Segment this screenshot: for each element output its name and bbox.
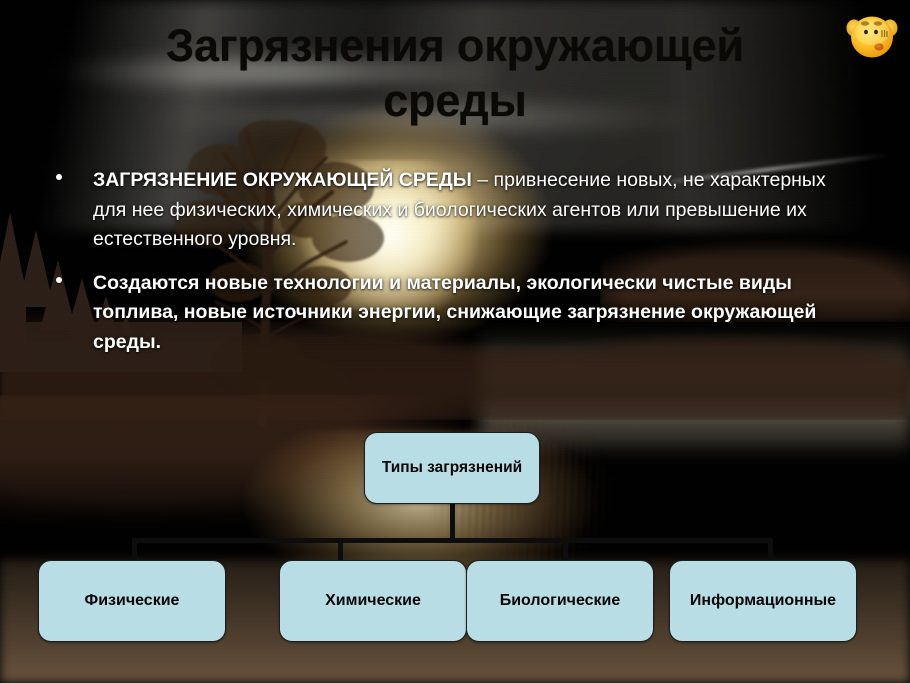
diagram-node-informational[interactable]: Информационные [669, 560, 857, 642]
pollution-types-diagram: Типы загрязнений Физические Химические Б… [0, 0, 910, 683]
connector-branch-2 [338, 538, 343, 562]
connector-horizontal-bus [132, 538, 773, 543]
diagram-node-physical[interactable]: Физические [38, 560, 226, 642]
diagram-node-root[interactable]: Типы загрязнений [364, 432, 540, 504]
slide-content: Загрязнения окружающей среды ЗАГРЯЗНЕНИЕ… [0, 0, 910, 683]
hamster-face-icon [846, 8, 898, 62]
connector-branch-3 [563, 538, 568, 562]
diagram-node-biological[interactable]: Биологические [466, 560, 654, 642]
presentation-slide: Загрязнения окружающей среды ЗАГРЯЗНЕНИЕ… [0, 0, 910, 683]
connector-root-vertical [450, 504, 455, 542]
connector-branch-4 [768, 538, 773, 562]
diagram-node-chemical[interactable]: Химические [279, 560, 467, 642]
connector-branch-1 [132, 538, 137, 562]
